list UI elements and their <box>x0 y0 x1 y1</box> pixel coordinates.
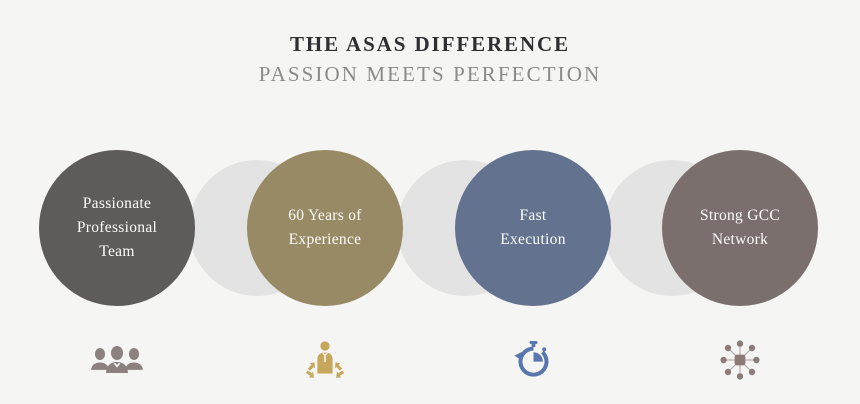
icon-slot-team <box>39 334 195 386</box>
team-people-icon <box>88 343 146 377</box>
pillar-circle: Fast Execution <box>455 150 611 306</box>
person-expansion-arrows-icon <box>302 340 348 380</box>
pillar-60-years-of-experience[interactable]: 60 Years of Experience <box>247 150 403 306</box>
network-hub-icon <box>718 338 762 382</box>
icon-slot-experience <box>247 334 403 386</box>
pillar-passionate-professional-team[interactable]: Passionate Professional Team <box>39 150 195 306</box>
pillar-label: Fast Execution <box>488 204 578 252</box>
pillar-label: 60 Years of Experience <box>276 204 373 252</box>
pillar-circle: Strong GCC Network <box>662 150 818 306</box>
pillar-label: Strong GCC Network <box>688 204 792 252</box>
stopwatch-icon <box>512 340 554 380</box>
icon-slot-execution <box>455 334 611 386</box>
asas-difference-infographic: THE ASAS DIFFERENCE PASSION MEETS PERFEC… <box>0 0 860 404</box>
pillar-circle: Passionate Professional Team <box>39 150 195 306</box>
pillar-fast-execution[interactable]: Fast Execution <box>455 150 611 306</box>
icon-slot-network <box>662 334 818 386</box>
pillar-strong-gcc-network[interactable]: Strong GCC Network <box>662 150 818 306</box>
pillar-circle: 60 Years of Experience <box>247 150 403 306</box>
pillar-label: Passionate Professional Team <box>65 192 169 264</box>
